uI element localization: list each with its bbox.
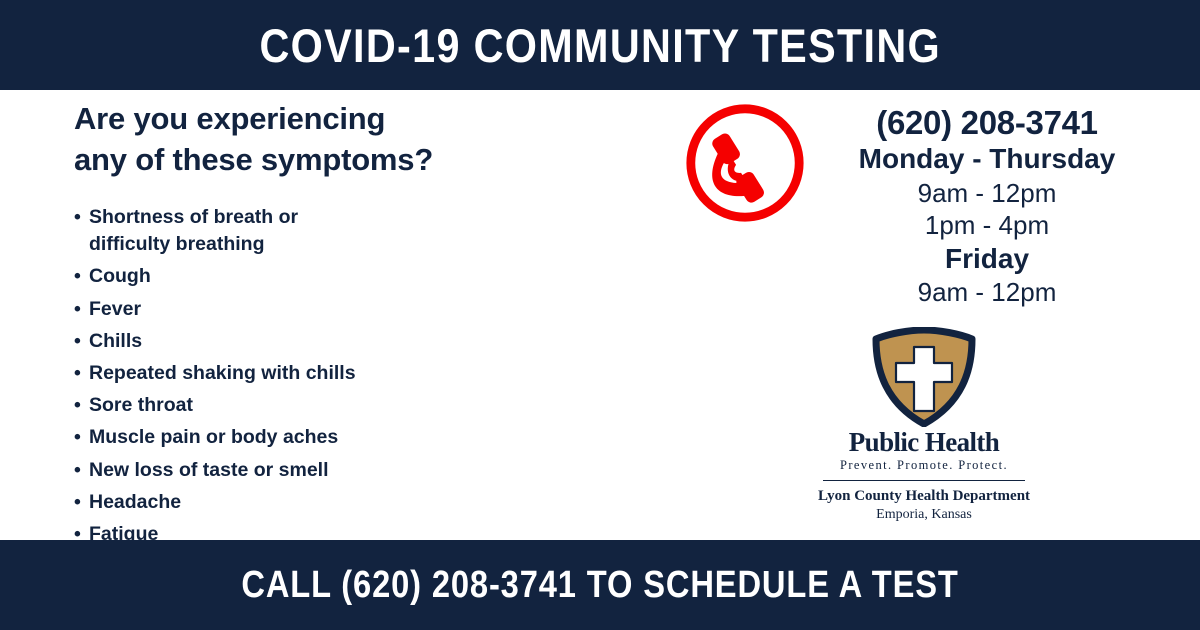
list-item: Muscle pain or body aches [74, 424, 634, 451]
hours-line: Friday [814, 242, 1160, 276]
logo-city: Emporia, Kansas [688, 506, 1160, 524]
poster-title: COVID-19 COMMUNITY TESTING [259, 18, 941, 73]
logo-department-name: Lyon County Health Department [688, 487, 1160, 506]
shield-with-cross-icon [868, 327, 980, 427]
contact-row: (620) 208-3741 Monday - Thursday 9am - 1… [660, 98, 1160, 309]
list-item: Chills [74, 328, 634, 355]
health-department-logo: Public Health Prevent. Promote. Protect.… [660, 327, 1160, 525]
symptom-label: Repeated shaking with chills [89, 362, 356, 384]
top-banner: COVID-19 COMMUNITY TESTING [0, 0, 1200, 90]
symptom-label: Fever [89, 298, 141, 320]
hours-line: 1pm - 4pm [814, 209, 1160, 242]
list-item: Shortness of breath or difficulty breath… [74, 204, 634, 257]
symptom-label: Headache [89, 491, 181, 513]
symptoms-section: Are you experiencing any of these sympto… [74, 98, 634, 585]
symptom-label: Chills [89, 330, 142, 352]
call-to-action-text: CALL (620) 208-3741 TO SCHEDULE A TEST [241, 564, 958, 607]
symptom-label-continuation: difficulty breathing [89, 231, 634, 258]
list-item: Repeated shaking with chills [74, 360, 634, 387]
hours-line: 9am - 12pm [814, 177, 1160, 210]
symptom-label: Muscle pain or body aches [89, 426, 338, 448]
symptom-label: Sore throat [89, 394, 193, 416]
phone-in-circle-icon [682, 100, 808, 226]
list-item: Sore throat [74, 392, 634, 419]
logo-tagline: Prevent. Promote. Protect. [688, 458, 1160, 473]
contact-section: (620) 208-3741 Monday - Thursday 9am - 1… [660, 98, 1160, 524]
logo-name: Public Health [688, 428, 1160, 456]
list-item: Headache [74, 489, 634, 516]
bottom-banner: CALL (620) 208-3741 TO SCHEDULE A TEST [0, 540, 1200, 630]
phone-number[interactable]: (620) 208-3741 [814, 104, 1160, 142]
symptoms-list: Shortness of breath or difficulty breath… [74, 204, 634, 579]
hours-line: 9am - 12pm [814, 276, 1160, 309]
list-item: New loss of taste or smell [74, 457, 634, 484]
symptoms-heading: Are you experiencing any of these sympto… [74, 98, 634, 180]
covid-testing-poster: COVID-19 COMMUNITY TESTING Are you exper… [0, 0, 1200, 630]
symptoms-heading-line-1: Are you experiencing [74, 101, 385, 136]
list-item: Cough [74, 263, 634, 290]
symptom-label: Cough [89, 265, 151, 287]
list-item: Fever [74, 296, 634, 323]
hours-line: Monday - Thursday [814, 142, 1160, 176]
logo-divider [823, 480, 1025, 482]
symptoms-heading-line-2: any of these symptoms? [74, 142, 433, 177]
symptom-label: Shortness of breath or [89, 206, 298, 228]
hours-block: (620) 208-3741 Monday - Thursday 9am - 1… [808, 104, 1160, 309]
symptom-label: New loss of taste or smell [89, 459, 329, 481]
